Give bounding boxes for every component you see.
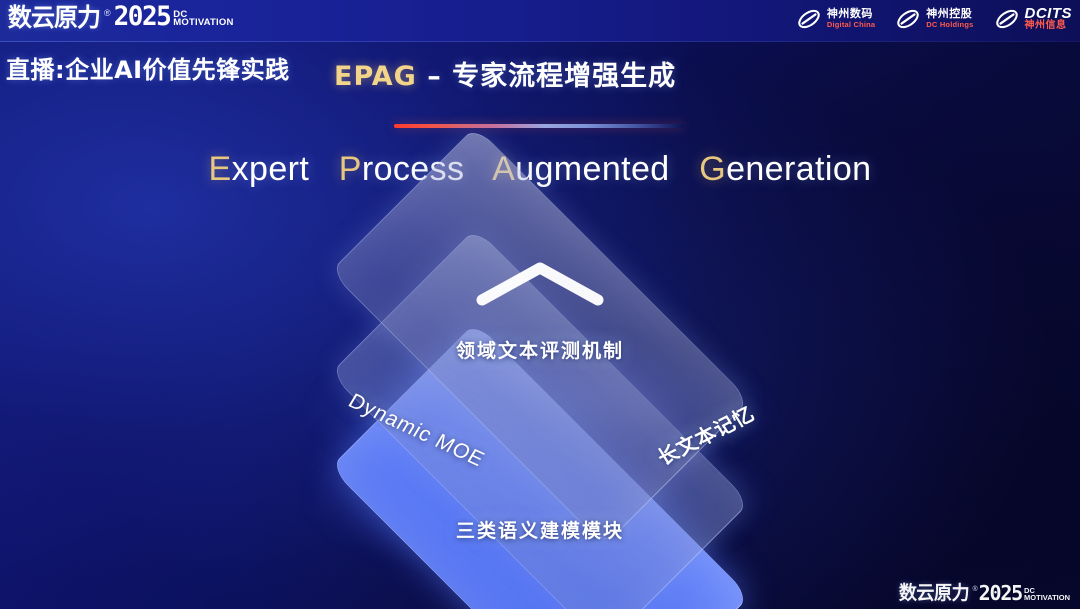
presentation-slide: 数云原力 ® 2025 DC MOTIVATION 神州数码 Digital C… bbox=[0, 0, 1080, 609]
partner-logo-dcits: DCITS 神州信息 bbox=[994, 6, 1073, 32]
heading-acronym: EPAG bbox=[334, 61, 417, 92]
brand-dc-line2: MOTIVATION bbox=[173, 19, 233, 28]
word-rest: ugmented bbox=[515, 150, 669, 188]
partner-name-cn: 神州信息 bbox=[1025, 21, 1073, 32]
partner-name-en: DC Holdings bbox=[926, 21, 973, 29]
partner-name-en: DCITS bbox=[1025, 6, 1073, 21]
live-stream-title: 直播:企业AI价值先锋实践 bbox=[6, 50, 290, 85]
watermark-dc-line2: MOTIVATION bbox=[1024, 595, 1070, 602]
gradient-divider bbox=[394, 124, 684, 128]
word-generation: Generation bbox=[699, 150, 871, 188]
swoosh-icon bbox=[796, 6, 822, 32]
slide-heading: EPAG – 专家流程增强生成 bbox=[334, 54, 676, 93]
layered-architecture-diagram: 领域文本评测机制 Dynamic MOE 长文本记忆 三类语义建模模块 bbox=[268, 228, 812, 568]
partner-logo-group: 神州数码 Digital China 神州控股 DC Holdings DCIT… bbox=[796, 6, 1072, 32]
partner-logo-digital-china: 神州数码 Digital China bbox=[796, 6, 875, 32]
partner-text: 神州数码 Digital China bbox=[827, 9, 875, 28]
heading-dash: – bbox=[417, 61, 452, 92]
expanded-acronym-line: Expert Process Augmented Generation bbox=[0, 150, 1080, 189]
heading-chinese: 专家流程增强生成 bbox=[452, 61, 676, 92]
brand-name-cn: 数云原力 bbox=[8, 5, 100, 30]
swoosh-icon bbox=[994, 6, 1020, 32]
word-initial: G bbox=[699, 150, 726, 188]
space bbox=[319, 150, 329, 188]
swoosh-icon bbox=[895, 6, 921, 32]
space bbox=[679, 150, 689, 188]
partner-text: DCITS 神州信息 bbox=[1025, 6, 1073, 32]
watermark-name-cn: 数云原力 bbox=[899, 584, 969, 603]
word-initial: E bbox=[209, 150, 232, 188]
registered-mark: ® bbox=[104, 9, 111, 18]
word-rest: xpert bbox=[232, 150, 310, 188]
partner-name-en: Digital China bbox=[827, 21, 875, 29]
watermark-registered-mark: ® bbox=[972, 586, 977, 593]
watermark-year: 2025 bbox=[979, 583, 1022, 603]
word-initial: P bbox=[339, 150, 362, 188]
word-expert: Expert bbox=[209, 150, 310, 188]
brand-logo-top-left: 数云原力 ® 2025 DC MOTIVATION bbox=[6, 4, 234, 30]
brand-year: 2025 bbox=[114, 4, 171, 31]
partner-logo-dc-holdings: 神州控股 DC Holdings bbox=[895, 6, 973, 32]
watermark-dc-motivation: DC MOTIVATION bbox=[1024, 588, 1070, 602]
brand-watermark-bottom-right: 数云原力 ® 2025 DC MOTIVATION bbox=[897, 583, 1070, 603]
brand-dc-motivation: DC MOTIVATION bbox=[173, 11, 233, 28]
chevron-up-icon bbox=[474, 260, 606, 306]
partner-text: 神州控股 DC Holdings bbox=[926, 9, 973, 28]
word-rest: eneration bbox=[726, 150, 871, 188]
